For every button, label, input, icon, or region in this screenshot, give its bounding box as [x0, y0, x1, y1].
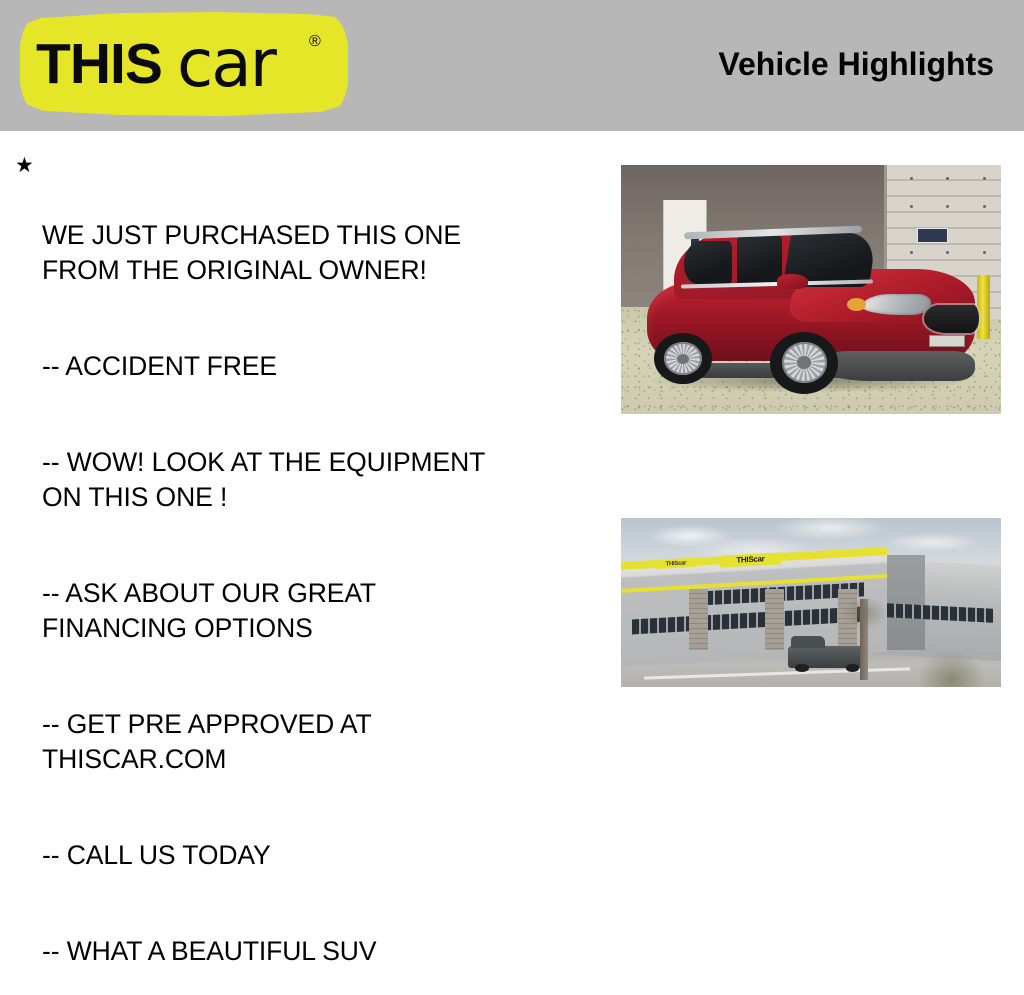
car-license-plate — [929, 335, 965, 347]
list-item: -- WHAT A BEAUTIFUL SUV — [0, 899, 600, 969]
car-grille — [924, 305, 979, 333]
list-item: -- GET PRE APPROVED AT THISCAR.COM — [0, 672, 600, 777]
parked-truck — [788, 646, 868, 668]
car-front-bumper — [818, 351, 975, 381]
shrubbery — [917, 650, 985, 687]
list-item-text: -- WHAT A BEAUTIFUL SUV — [42, 936, 376, 966]
stone-pillar — [689, 589, 708, 650]
car-rear-wheel — [654, 333, 712, 384]
list-item: -- WOW! LOOK AT THE EQUIPMENT ON THIS ON… — [0, 410, 600, 515]
list-item: ★ WE JUST PURCHASED THIS ONE FROM THE OR… — [0, 148, 600, 288]
registered-trademark-icon: ® — [309, 33, 321, 51]
car-side-mirror — [777, 274, 808, 289]
logo-wordmark: THIS car ® — [36, 29, 332, 99]
star-bullet-icon: ★ — [15, 148, 34, 183]
page-title: Vehicle Highlights — [718, 46, 994, 83]
list-item-text: -- CALL US TODAY — [42, 840, 271, 870]
vehicle-photo-scene — [621, 165, 1001, 414]
car-headlight — [862, 294, 930, 315]
list-item: -- CALL US TODAY — [0, 803, 600, 873]
vehicle-photo[interactable] — [621, 165, 1001, 414]
list-item-text: -- ASK ABOUT OUR GREAT FINANCING OPTIONS — [42, 578, 376, 643]
logo-text-this: THIS — [36, 33, 162, 95]
list-item-text: -- GET PRE APPROVED AT THISCAR.COM — [42, 709, 372, 774]
list-item-text: -- ACCIDENT FREE — [42, 351, 277, 381]
dealership-photo-scene: THIScar THIScar — [621, 518, 1001, 687]
car-front-wheel — [770, 332, 838, 394]
car-rear-window — [684, 241, 732, 284]
list-item: -- ASK ABOUT OUR GREAT FINANCING OPTIONS — [0, 541, 600, 646]
dealership-photo[interactable]: THIScar THIScar — [621, 518, 1001, 687]
brand-logo[interactable]: THIS car ® — [20, 12, 348, 116]
vehicle-highlights-list: ★ WE JUST PURCHASED THIS ONE FROM THE OR… — [0, 148, 600, 995]
list-item: -- ACCIDENT FREE — [0, 314, 600, 384]
logo-text-car: car — [177, 31, 275, 97]
stone-pillar — [765, 589, 784, 650]
list-item-text: -- WOW! LOOK AT THE EQUIPMENT ON THIS ON… — [42, 447, 485, 512]
building-sign-secondary-text: THIScar — [666, 560, 687, 567]
car-side-window — [737, 236, 781, 285]
page-header: THIS car ® Vehicle Highlights — [0, 0, 1024, 131]
tree — [860, 599, 868, 680]
red-suv — [640, 220, 982, 384]
list-item-text: WE JUST PURCHASED THIS ONE FROM THE ORIG… — [42, 220, 461, 285]
building-sign-primary-text: THIScar — [736, 555, 764, 566]
